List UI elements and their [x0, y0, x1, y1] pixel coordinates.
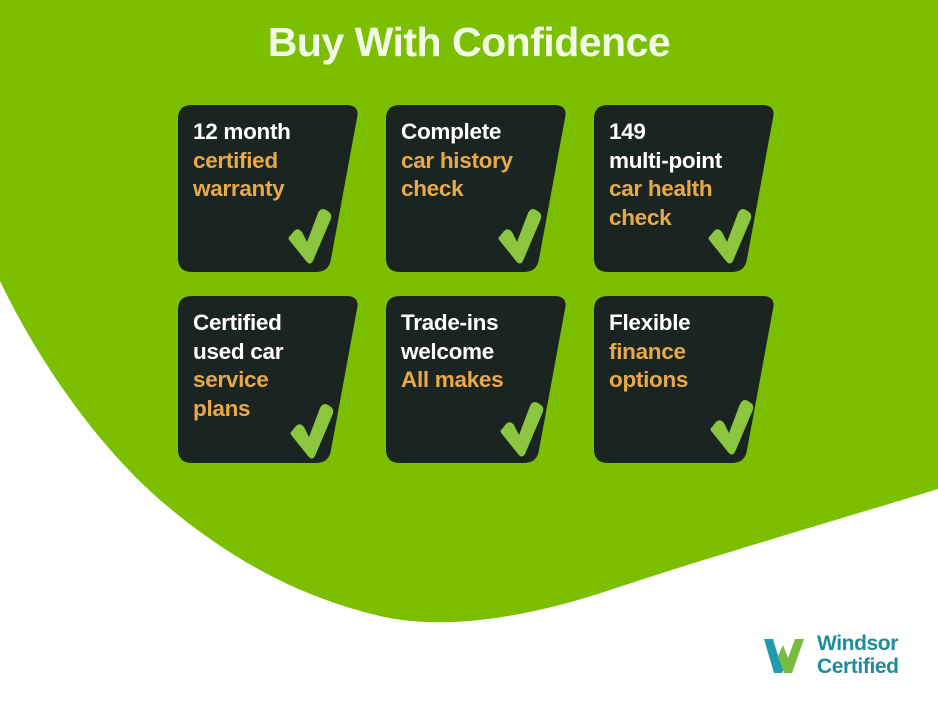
check-icon — [286, 209, 332, 265]
card-line-white-0: 149 — [609, 118, 761, 147]
card-line-orange-0: finance — [609, 338, 761, 367]
logo-line-1: Windsor — [817, 632, 899, 655]
feature-card-trade-ins[interactable]: Trade-ins welcome All makes — [386, 296, 568, 463]
card-line-white-0: Complete — [401, 118, 553, 147]
brand-logo[interactable]: Windsor Certified — [762, 628, 928, 682]
feature-card-service-plans[interactable]: Certified used car service plans — [178, 296, 360, 463]
check-icon — [706, 209, 752, 265]
card-line-white-0: 12 month — [193, 118, 345, 147]
check-icon — [498, 402, 544, 458]
card-text: Complete car history check — [401, 118, 553, 204]
card-line-orange-0: service — [193, 366, 345, 395]
card-line-orange-1: check — [401, 175, 553, 204]
page-title: Buy With Confidence — [0, 18, 938, 66]
check-icon — [496, 209, 542, 265]
logo-line-2: Certified — [817, 655, 899, 678]
card-line-white-0: Flexible — [609, 309, 761, 338]
card-text: Trade-ins welcome All makes — [401, 309, 553, 395]
check-icon — [288, 404, 334, 460]
card-text: 12 month certified warranty — [193, 118, 345, 204]
card-line-orange-0: car health — [609, 175, 761, 204]
card-line-white-1: welcome — [401, 338, 553, 367]
feature-card-car-history-check[interactable]: Complete car history check — [386, 105, 568, 272]
card-line-orange-0: certified — [193, 147, 345, 176]
card-line-white-1: multi-point — [609, 147, 761, 176]
card-line-white-1: used car — [193, 338, 345, 367]
logo-wordmark: Windsor Certified — [817, 632, 899, 678]
feature-cards-grid: 12 month certified warranty Complete car… — [178, 105, 778, 487]
feature-card-flexible-finance[interactable]: Flexible finance options — [594, 296, 776, 463]
feature-card-multi-point-health-check[interactable]: 149 multi-point car health check — [594, 105, 776, 272]
check-icon — [708, 400, 754, 456]
card-line-orange-1: warranty — [193, 175, 345, 204]
card-text: Flexible finance options — [609, 309, 761, 395]
feature-card-row-top: 12 month certified warranty Complete car… — [178, 105, 778, 272]
feature-card-row-bottom: Certified used car service plans Trade-i… — [178, 296, 778, 463]
card-line-orange-0: car history — [401, 147, 553, 176]
card-line-orange-0: All makes — [401, 366, 553, 395]
card-line-white-0: Certified — [193, 309, 345, 338]
feature-card-certified-warranty[interactable]: 12 month certified warranty — [178, 105, 360, 272]
card-line-white-0: Trade-ins — [401, 309, 553, 338]
card-line-orange-1: options — [609, 366, 761, 395]
windsor-w-icon — [762, 635, 808, 675]
